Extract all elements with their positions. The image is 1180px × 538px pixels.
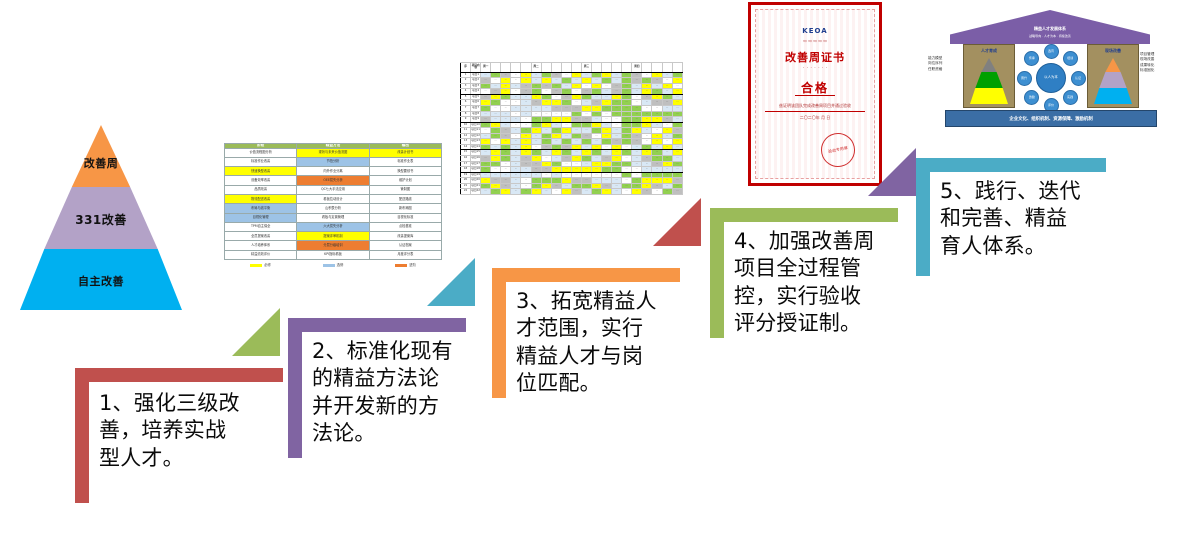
schedule-sheet-cell: ··· [581, 189, 591, 195]
step-card-5-text: 5、践行、迭代 和完善、精益 育人体系。 [940, 178, 1110, 260]
house-left-pillar: 人才育成 [963, 44, 1015, 108]
certificate-ornament2-icon: · · · · · · · [751, 65, 879, 72]
method-table-row: 快速换型改善内外作业分离换型要领书 [225, 167, 442, 176]
method-table-cell: 目视化标准 [369, 213, 441, 222]
schedule-sheet-cell: ··· [521, 189, 531, 195]
method-table-cell: 换型要领书 [369, 167, 441, 176]
house-roof-title: 精益人才发展体系 [950, 26, 1150, 32]
method-table-cell: 管制图 [369, 185, 441, 194]
method-table-cell: 点检基准 [369, 222, 441, 231]
schedule-sheet-header-cell [622, 63, 632, 73]
schedule-sheet-header-cell: 周一 [481, 63, 491, 73]
house-ring-node: 选育 [1044, 44, 1059, 59]
step-card-4[interactable]: 4、加强改善周 项目全过程管 控，实行验收 评分授证制。 [710, 208, 898, 338]
step-arrow-3-to-4-icon [653, 198, 701, 246]
method-table-cell: 看板拉动设计 [297, 195, 369, 204]
schedule-sheet-cell: ··· [541, 189, 551, 195]
method-table-legend: 必修 选修 进阶 [224, 260, 442, 269]
step-card-5[interactable]: 5、践行、迭代 和完善、精益 育人体系。 [916, 158, 1106, 276]
house-ring-hub: 以人为本 [1036, 63, 1066, 93]
schedule-sheet-cell: ··· [592, 189, 602, 195]
kaizen-schedule-sheet-thumbnail: 序项目内容周一周二周三周四1项目1·······················… [460, 62, 683, 195]
method-table-cell: 价值流程图分析 [225, 148, 297, 157]
method-table-row: 精益绩效评价KPI指标看板月度评分表 [225, 250, 442, 259]
schedule-sheet-header-cell [672, 63, 682, 73]
method-table-cell: 现状与未来价值流图 [297, 148, 369, 157]
method-table-cell: 认证档案 [369, 241, 441, 250]
method-table-cell: KPI指标看板 [297, 250, 369, 259]
method-table-row: 设备效率改善OEE损失分析维护计划 [225, 176, 442, 185]
method-table-cell: 维护计划 [369, 176, 441, 185]
step-card-2-top-bar [288, 318, 466, 332]
certificate-grade-underline [795, 95, 835, 96]
house-roof-subtitle: 战略导向 · 人才为本 · 持续改善 [950, 34, 1150, 38]
house-right-pillar: 现场改善 [1087, 44, 1139, 108]
certificate-divider [765, 111, 865, 112]
house-ring-node: 实践 [1063, 90, 1078, 105]
schedule-sheet-header-row: 序项目内容周一周二周三周四 [461, 63, 683, 73]
schedule-sheet-header-cell: 周二 [531, 63, 541, 73]
schedule-sheet-cell: ··· [602, 189, 612, 195]
schedule-sheet-header-cell: 周四 [632, 63, 642, 73]
schedule-sheet-body: 序项目内容周一周二周三周四1项目1·······················… [461, 63, 683, 195]
house-right-notes: 项目管理 现场改善 成果转化 标准固化 [1140, 52, 1174, 74]
kaizen-week-certificate-thumbnail: KEOA ≈≈≈≈≈ 改善周证书 · · · · · · · 合格 兹证明该团队… [748, 2, 882, 186]
step-card-1[interactable]: 1、强化三级改 善，培养实战 型人才。 [75, 368, 283, 503]
method-table-cell: 品质改善 [225, 185, 297, 194]
house-left-pyramid [970, 58, 1008, 104]
house-foundation: 企业文化、组织机制、资源保障、激励机制 [945, 110, 1157, 127]
method-table-row: 标准作业改善节拍分析标准作业表 [225, 157, 442, 166]
step-card-4-left-bar [710, 208, 724, 338]
schedule-sheet-header-cell [652, 63, 662, 73]
certificate-brand: KEOA [751, 27, 879, 35]
house-ring-node: 晋升 [1017, 71, 1032, 86]
method-table-row: 物流配送改善看板拉动设计配送路线 [225, 195, 442, 204]
method-table-cell: 目视化管理 [225, 213, 297, 222]
pyramid-layer-top-label: 改善周 [20, 155, 182, 171]
house-ring-node: 培训 [1063, 51, 1078, 66]
step-card-5-top-bar [916, 158, 1106, 172]
schedule-sheet-cell: ··· [632, 189, 642, 195]
house-left-pillar-title: 人才育成 [964, 48, 1014, 54]
step-arrow-2-to-3-icon [427, 258, 475, 306]
method-table-cell: 标准作业表 [369, 157, 441, 166]
method-table-cell: 标准作业改善 [225, 157, 297, 166]
three-level-improvement-pyramid: 改善周 331改善 自主改善 [20, 125, 182, 310]
step-card-3-text: 3、拓宽精益人 才范围，实行 精益人才与岗 位匹配。 [516, 288, 684, 397]
method-table-row: 价值流程图分析现状与未来价值流图改善计划书 [225, 148, 442, 157]
schedule-sheet-header-cell [521, 63, 531, 73]
pyramid-layer-bottom-label: 自主改善 [20, 273, 182, 289]
schedule-sheet-cell: ··· [622, 189, 632, 195]
method-table-row: 品质改善QC七大手法应用管制图 [225, 185, 442, 194]
step-card-4-text: 4、加强改善周 项目全过程管 控，实行验收 评分授证制。 [734, 228, 904, 337]
method-table-cell: 分层分级培训 [297, 241, 369, 250]
schedule-sheet-cell: ··· [571, 189, 581, 195]
schedule-sheet-cell: ··· [551, 189, 561, 195]
step-card-5-left-bar [916, 158, 930, 276]
step-arrow-4-to-5-icon [868, 148, 916, 196]
method-table-cell: 布局与线平衡 [225, 204, 297, 213]
schedule-sheet-header-cell [491, 63, 501, 73]
schedule-sheet-header-cell: 项目内容 [471, 63, 481, 73]
certificate-title: 改善周证书 [751, 49, 879, 65]
schedule-sheet-cell: 22 [461, 189, 471, 195]
schedule-sheet-cell: ··· [561, 189, 571, 195]
roadmap-canvas: 改善周 331改善 自主改善 阶段 精益方法 输出 价值流程图分析现状与未来价值… [0, 0, 1180, 538]
schedule-sheet-header-cell [571, 63, 581, 73]
schedule-sheet-header-cell [501, 63, 511, 73]
method-table-cell: OEE损失分析 [297, 176, 369, 185]
schedule-sheet-cell: ··· [662, 189, 672, 195]
method-table-cell: 改善提案库 [369, 232, 441, 241]
method-table-cell: QC七大手法应用 [297, 185, 369, 194]
method-table-cell: 内外作业分离 [297, 167, 369, 176]
house-right-pyramid [1094, 58, 1132, 104]
step-card-2-text: 2、标准化现有 的精益方法论 并开发新的方 法论。 [312, 338, 472, 447]
method-table-cell: 精益绩效评价 [225, 250, 297, 259]
house-ring-node: 激励 [1024, 90, 1039, 105]
method-table-cell: 改善计划书 [369, 148, 441, 157]
method-table-cell: 看板与定置管理 [297, 213, 369, 222]
method-table-cell: 节拍分析 [297, 157, 369, 166]
schedule-sheet-cell: 项目22 [471, 189, 481, 195]
schedule-sheet-header-cell [642, 63, 652, 73]
certificate-body-text: 兹证明该团队完成改善周项目并通过验收 [751, 103, 879, 109]
legend-item: 进阶 [395, 262, 416, 267]
method-table-cell: 全员提案改善 [225, 232, 297, 241]
schedule-sheet-table: 序项目内容周一周二周三周四1项目1·······················… [460, 62, 683, 195]
schedule-sheet-header-cell [612, 63, 622, 73]
schedule-sheet-cell: ··· [481, 189, 491, 195]
house-ring-node: 传承 [1024, 51, 1039, 66]
house-ring-node: 认证 [1071, 71, 1086, 86]
schedule-sheet-header-cell [511, 63, 521, 73]
schedule-sheet-header-cell [602, 63, 612, 73]
legend-item: 必修 [250, 262, 271, 267]
lean-method-table-thumbnail: 阶段 精益方法 输出 价值流程图分析现状与未来价值流图改善计划书标准作业改善节拍… [224, 143, 442, 260]
pyramid-layer-middle-label: 331改善 [20, 211, 182, 228]
schedule-sheet-cell: ··· [501, 189, 511, 195]
method-table-cell: 新布局图 [369, 204, 441, 213]
step-card-1-text: 1、强化三级改 善，培养实战 型人才。 [99, 390, 285, 472]
step-card-3-top-bar [492, 268, 680, 282]
certificate-ornament-icon: ≈≈≈≈≈ [751, 38, 879, 45]
schedule-sheet-row: 22项目22··································… [461, 189, 683, 195]
method-table-row: TPM自主保全六大损失分析点检基准 [225, 222, 442, 231]
method-table-cell: 六大损失分析 [297, 222, 369, 231]
method-table-cell: 山积表分析 [297, 204, 369, 213]
step-card-1-top-bar [75, 368, 283, 382]
schedule-sheet-header-cell: 序 [461, 63, 471, 73]
method-table-row: 人才培养体系分层分级培训认证档案 [225, 241, 442, 250]
step-card-2[interactable]: 2、标准化现有 的精益方法论 并开发新的方 法论。 [288, 318, 466, 458]
lean-talent-house-diagram-thumbnail: 精益人才发展体系 战略导向 · 人才为本 · 持续改善 人才育成 现场改善 选育… [925, 4, 1175, 134]
schedule-sheet-header-cell [561, 63, 571, 73]
method-table-cell: 提案评审机制 [297, 232, 369, 241]
legend-item: 选修 [323, 262, 344, 267]
schedule-sheet-cell: ··· [491, 189, 501, 195]
method-table-cell: 快速换型改善 [225, 167, 297, 176]
step-card-2-left-bar [288, 318, 302, 458]
schedule-sheet-cell: ··· [642, 189, 652, 195]
method-table-row: 目视化管理看板与定置管理目视化标准 [225, 213, 442, 222]
certificate-grade: 合格 [751, 79, 879, 96]
schedule-sheet-header-cell: 周三 [581, 63, 591, 73]
schedule-sheet-cell: ··· [531, 189, 541, 195]
schedule-sheet-header-cell [551, 63, 561, 73]
step-arrow-1-to-2-icon [232, 308, 280, 356]
step-card-1-left-bar [75, 368, 89, 503]
schedule-sheet-cell: ··· [652, 189, 662, 195]
method-table-cell: 物流配送改善 [225, 195, 297, 204]
house-left-notes: 能力模型 岗位序列 任职资格 [928, 56, 960, 72]
method-table: 阶段 精益方法 输出 价值流程图分析现状与未来价值流图改善计划书标准作业改善节拍… [224, 143, 442, 260]
certificate-date: 二〇二〇年 月 日 [751, 115, 879, 121]
schedule-sheet-header-cell [541, 63, 551, 73]
method-table-cell: 配送路线 [369, 195, 441, 204]
schedule-sheet-header-cell [592, 63, 602, 73]
step-card-3-left-bar [492, 268, 506, 398]
schedule-sheet-cell: ··· [511, 189, 521, 195]
schedule-sheet-cell: ··· [672, 189, 682, 195]
schedule-sheet-header-cell [662, 63, 672, 73]
schedule-sheet-cell: ··· [612, 189, 622, 195]
method-table-row: 全员提案改善提案评审机制改善提案库 [225, 232, 442, 241]
step-card-3[interactable]: 3、拓宽精益人 才范围，实行 精益人才与岗 位匹配。 [492, 268, 680, 398]
method-table-cell: 人才培养体系 [225, 241, 297, 250]
step-card-4-top-bar [710, 208, 898, 222]
house-right-pillar-title: 现场改善 [1088, 48, 1138, 54]
method-table-row: 布局与线平衡山积表分析新布局图 [225, 204, 442, 213]
method-table-cell: 设备效率改善 [225, 176, 297, 185]
method-table-body: 价值流程图分析现状与未来价值流图改善计划书标准作业改善节拍分析标准作业表快速换型… [225, 148, 442, 259]
method-table-cell: TPM自主保全 [225, 222, 297, 231]
